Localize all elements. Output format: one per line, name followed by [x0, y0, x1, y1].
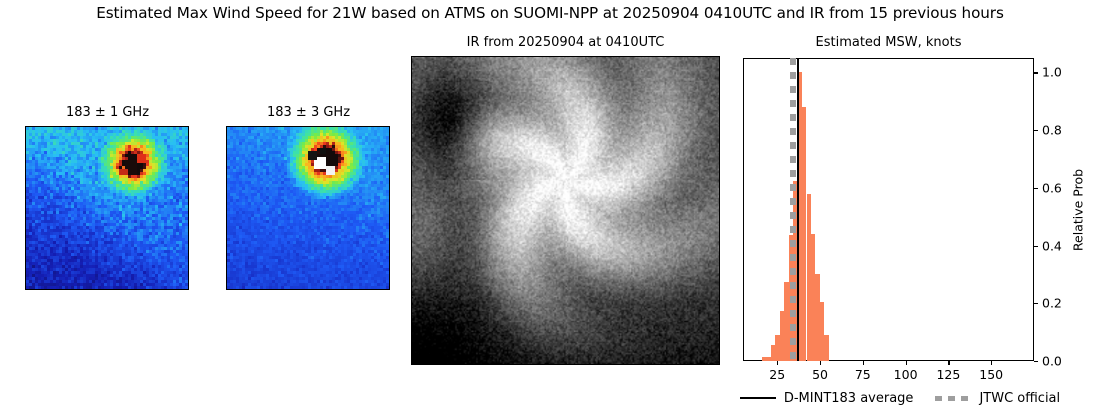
y-axis-tick — [1034, 361, 1038, 362]
jtwc-official-line — [790, 58, 796, 361]
mw1-panel-title: 183 ± 1 GHz — [25, 105, 190, 120]
legend-label-jtwc: JTWC official — [979, 391, 1060, 406]
x-axis-tick — [948, 361, 949, 365]
x-axis-tick-label: 75 — [855, 367, 871, 382]
mw2-canvas — [227, 127, 389, 289]
histogram-ylabel: Relative Prob — [1071, 169, 1086, 251]
page-title: Estimated Max Wind Speed for 21W based o… — [0, 4, 1100, 22]
y-axis-tick-label: 0.6 — [1042, 180, 1062, 195]
dmint183-average-line — [797, 58, 799, 361]
histogram-bars — [743, 58, 1034, 361]
legend-entry-jtwc: JTWC official — [935, 391, 1060, 406]
mw2-image-183p3ghz — [226, 126, 390, 290]
x-axis-tick — [820, 361, 821, 365]
y-axis-tick-label: 0.0 — [1042, 354, 1062, 369]
ir-canvas — [412, 57, 719, 364]
histogram-bar — [824, 335, 828, 361]
y-axis-tick-label: 1.0 — [1042, 65, 1062, 80]
x-axis-tick-label: 150 — [979, 367, 1003, 382]
x-axis-tick-label: 125 — [936, 367, 960, 382]
x-axis-tick-label: 25 — [769, 367, 785, 382]
y-axis-tick-label: 0.4 — [1042, 238, 1062, 253]
solid-line-icon — [740, 397, 776, 399]
y-axis-tick — [1034, 188, 1038, 189]
mw2-panel-title: 183 ± 3 GHz — [226, 105, 391, 120]
x-axis-tick-label: 50 — [812, 367, 828, 382]
dashed-line-icon — [935, 396, 971, 401]
mw1-image-183p1ghz — [25, 126, 189, 290]
x-axis-tick — [863, 361, 864, 365]
y-axis-tick — [1034, 72, 1038, 73]
x-axis-tick — [777, 361, 778, 365]
msw-histogram: 2550751001251500.00.20.40.60.81.0 — [743, 58, 1034, 361]
x-axis-tick-label: 100 — [894, 367, 918, 382]
ir-panel-title: IR from 20250904 at 0410UTC — [411, 35, 720, 50]
y-axis-tick-label: 0.8 — [1042, 123, 1062, 138]
ir-satellite-image — [411, 56, 720, 365]
x-axis-tick — [991, 361, 992, 365]
y-axis-tick-label: 0.2 — [1042, 296, 1062, 311]
mw1-canvas — [26, 127, 188, 289]
y-axis-tick — [1034, 303, 1038, 304]
histogram-legend: D-MINT183 average JTWC official — [700, 387, 1100, 409]
y-axis-tick — [1034, 130, 1038, 131]
histogram-title: Estimated MSW, knots — [743, 35, 1034, 50]
legend-entry-dmint183: D-MINT183 average — [740, 391, 914, 406]
y-axis-tick — [1034, 246, 1038, 247]
legend-label-dmint183: D-MINT183 average — [784, 391, 914, 406]
x-axis-tick — [906, 361, 907, 365]
